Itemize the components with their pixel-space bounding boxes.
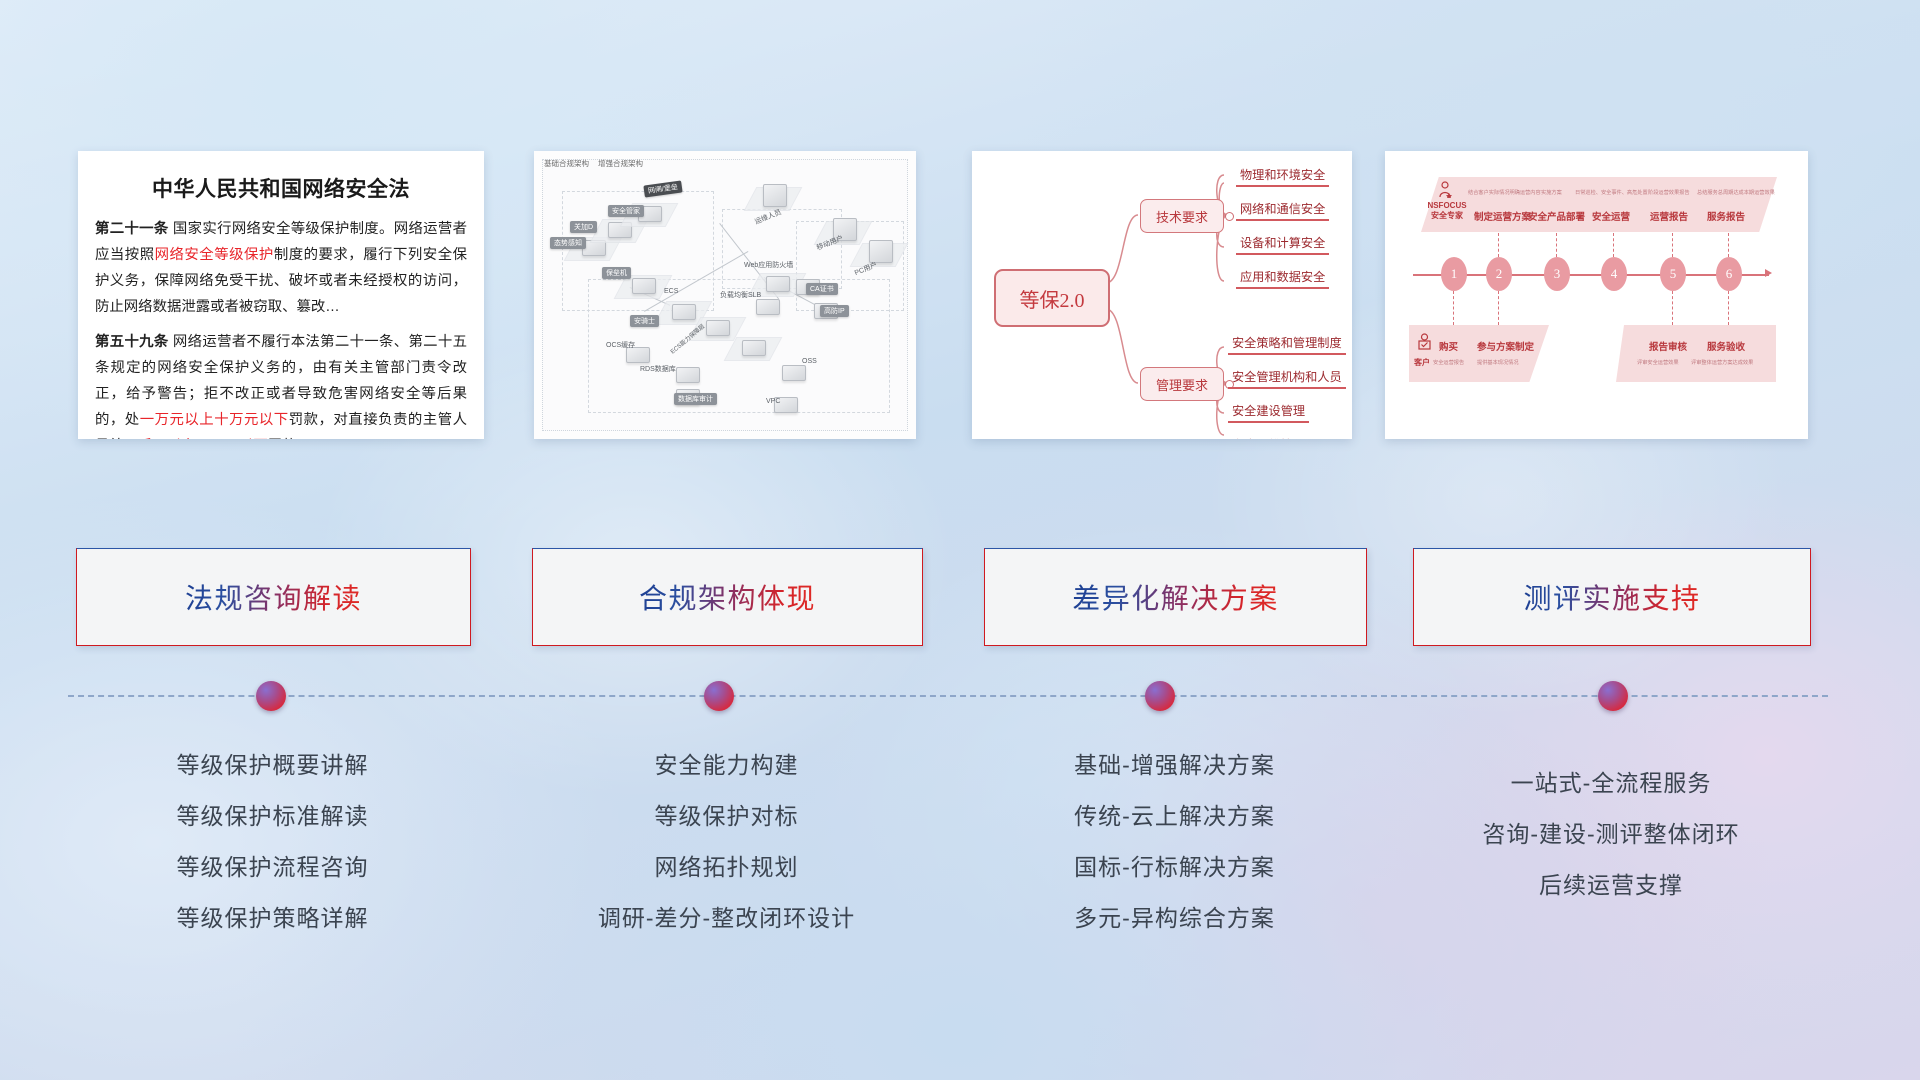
timeline-rail (68, 695, 1828, 699)
section-item: 等级保护对标 (532, 791, 921, 842)
timeline-step-node[interactable]: 3 (1544, 257, 1570, 291)
timeline-step-node[interactable]: 4 (1601, 257, 1627, 291)
section-title-row: 法规咨询解读 合规架构体现 差异化解决方案 测评实施支持 (0, 548, 1920, 648)
arch-label-vpc: VPC (762, 397, 784, 406)
section-title-label: 合规架构体现 (639, 577, 816, 617)
arch-label-ca: CA证书 (806, 283, 838, 295)
section-item: 多元-异构综合方案 (984, 893, 1365, 944)
arch-label-anti-ddos: 高防IP (820, 305, 849, 317)
arch-label-situational: 态势感知 (550, 237, 586, 249)
section-title-label: 法规咨询解读 (185, 577, 362, 617)
section-item: 等级保护标准解读 (76, 791, 469, 842)
timeline-top-sub: 结合客户实际情况明确运营内容 (1468, 189, 1541, 196)
arch-label-ocs: OCS缓存 (602, 339, 639, 351)
arch-label-db-audit: 数据库审计 (674, 393, 717, 405)
timeline-step-node[interactable]: 1 (1441, 257, 1467, 291)
section-detail-columns: 等级保护概要讲解 等级保护标准解读 等级保护流程咨询 等级保护策略详解 安全能力… (0, 740, 1920, 970)
timeline-top-sub: 阶段运营效果报告 (1648, 189, 1690, 196)
card-mindmap-dengbao: 等保2.0 技术要求 管理要求 物理和环境安全 网络和通信安全 设备和计算安全 … (972, 151, 1352, 439)
timeline-riser (1613, 233, 1615, 257)
mindmap-leaf: 应用和数据安全 (1236, 267, 1329, 289)
section-items-4: 一站式-全流程服务 咨询-建设-测评整体闭环 后续运营支撑 (1413, 758, 1809, 911)
rail-knob-3[interactable] (1145, 681, 1175, 711)
mindmap-leaf: 物理和环境安全 (1236, 165, 1329, 187)
timeline-step-node[interactable]: 5 (1660, 257, 1686, 291)
section-items-1: 等级保护概要讲解 等级保护标准解读 等级保护流程咨询 等级保护策略详解 (76, 740, 469, 944)
section-item: 后续运营支撑 (1413, 860, 1809, 911)
mindmap-leaf: 安全建设管理 (1228, 401, 1309, 423)
mindmap-leaf: 安全策略和管理制度 (1228, 333, 1346, 355)
timeline-riser (1453, 291, 1455, 325)
timeline-band-bottom-right (1616, 325, 1776, 382)
arch-label-shield: 关加D (570, 221, 597, 233)
section-item: 国标-行标解决方案 (984, 842, 1365, 893)
mindmap-branch-management: 管理要求 (1140, 367, 1224, 401)
timeline-bottom-caption: 服务验收 (1707, 339, 1745, 353)
tab-basic-compliance[interactable]: 基础合规架构 (544, 158, 589, 169)
timeline-brand: NSFOCUS 安全专家 (1423, 201, 1471, 221)
mindmap-expand-dot[interactable] (1225, 212, 1234, 221)
section-title-box-2[interactable]: 合规架构体现 (532, 548, 923, 646)
mindmap-leaf: 网络和通信安全 (1236, 199, 1329, 221)
section-title-label: 测评实施支持 (1523, 577, 1700, 617)
timeline-band-top (1421, 177, 1777, 232)
arch-label-bastion: 保垒机 (602, 267, 631, 279)
customer-person-icon (1417, 333, 1432, 352)
law-paragraph-1: 第二十一条 国家实行网络安全等级保护制度。网络运营者应当按照网络安全等级保护制度… (95, 216, 467, 320)
rail-knob-4[interactable] (1598, 681, 1628, 711)
section-item: 咨询-建设-测评整体闭环 (1413, 809, 1809, 860)
timeline-bottom-caption: 报告审核 (1649, 339, 1687, 353)
timeline-riser (1728, 233, 1730, 257)
law-paragraph-2: 第五十九条 网络运营者不履行本法第二十一条、第二十五条规定的网络安全保护义务的，… (95, 329, 467, 439)
architecture-tabs: 基础合规架构 增强合规架构 (544, 158, 643, 169)
section-items-3: 基础-增强解决方案 传统-云上解决方案 国标-行标解决方案 多元-异构综合方案 (984, 740, 1365, 944)
section-items-2: 安全能力构建 等级保护对标 网络拓扑规划 调研-差分-整改闭环设计 (532, 740, 921, 944)
arch-label-ecs: ECS (660, 287, 682, 296)
timeline-top-caption: 服务报告 (1707, 209, 1745, 223)
expert-person-icon (1437, 181, 1453, 198)
section-item: 等级保护流程咨询 (76, 842, 469, 893)
mindmap-leaf: 安全管理机构和人员 (1228, 367, 1346, 389)
timeline-top-sub: 实施方案 (1541, 189, 1562, 196)
timeline-top-caption: 运营报告 (1650, 209, 1688, 223)
law-title: 中华人民共和国网络安全法 (95, 173, 467, 203)
rail-knob-1[interactable] (256, 681, 286, 711)
timeline-bottom-caption: 参与方案制定 (1477, 339, 1534, 353)
timeline-top-caption: 安全产品部署 (1528, 209, 1585, 223)
timeline-brand-line2: 安全专家 (1423, 211, 1471, 221)
section-item: 安全能力构建 (532, 740, 921, 791)
section-title-box-3[interactable]: 差异化解决方案 (984, 548, 1367, 646)
section-item: 等级保护概要讲解 (76, 740, 469, 791)
section-title-box-1[interactable]: 法规咨询解读 (76, 548, 471, 646)
card-service-timeline: NSFOCUS 安全专家 客户 1 2 3 4 5 6 (1385, 151, 1808, 439)
tab-enhanced-compliance[interactable]: 增强合规架构 (598, 158, 643, 169)
mindmap-root-node: 等保2.0 (994, 269, 1110, 327)
arch-label-agent: 安骑士 (630, 315, 659, 327)
illustration-card-row: 中华人民共和国网络安全法 第二十一条 国家实行网络安全等级保护制度。网络运营者应… (0, 151, 1920, 441)
timeline-top-caption: 安全运营 (1592, 209, 1630, 223)
arch-label-oss: OSS (798, 357, 821, 366)
card-cybersecurity-law: 中华人民共和国网络安全法 第二十一条 国家实行网络安全等级保护制度。网络运营者应… (78, 151, 484, 439)
timeline-bottom-sub: 安全运营报告 (1433, 359, 1464, 366)
timeline-bottom-sub: 评审整体运营方案达成效果 (1691, 359, 1753, 366)
card-compliance-architecture: 基础合规架构 增强合规架构 (534, 151, 916, 439)
timeline-riser (1728, 291, 1730, 325)
arch-label-security-manager: 安全管家 (608, 205, 644, 217)
section-item: 网络拓扑规划 (532, 842, 921, 893)
timeline-riser (1672, 291, 1674, 325)
section-title-label: 差异化解决方案 (1072, 577, 1279, 617)
section-item: 基础-增强解决方案 (984, 740, 1365, 791)
timeline-customer-label: 客户 (1414, 357, 1430, 368)
timeline-bottom-sub: 提供基本现况情况 (1477, 359, 1519, 366)
arch-label-slb: 负载均衡SLB (716, 289, 765, 301)
timeline-step-node[interactable]: 2 (1486, 257, 1512, 291)
timeline-riser (1672, 233, 1674, 257)
timeline-bottom-caption: 购买 (1439, 339, 1458, 353)
mindmap-leaf: 设备和计算安全 (1236, 233, 1329, 255)
timeline-top-sub: 日常巡检、安全事件、高危处置 (1575, 189, 1648, 196)
timeline-riser (1498, 291, 1500, 325)
arch-label-rds: RDS数据库 (636, 363, 680, 375)
timeline-bottom-sub: 评审安全运营效果 (1637, 359, 1679, 366)
section-item: 传统-云上解决方案 (984, 791, 1365, 842)
timeline-riser (1498, 233, 1500, 257)
timeline-riser (1556, 233, 1558, 257)
section-title-box-4[interactable]: 测评实施支持 (1413, 548, 1811, 646)
arch-label-waf: Web应用防火墙 (740, 259, 797, 271)
section-item: 等级保护策略详解 (76, 893, 469, 944)
mindmap-leaf: 安全运维管理 (1228, 435, 1309, 439)
section-item: 调研-差分-整改闭环设计 (532, 893, 921, 944)
mindmap-branch-technical: 技术要求 (1140, 199, 1224, 233)
timeline-top-caption: 制定运营方案 (1474, 209, 1531, 223)
timeline-arrow-icon (1765, 269, 1772, 277)
timeline-brand-line1: NSFOCUS (1423, 201, 1471, 211)
timeline-step-node[interactable]: 6 (1716, 257, 1742, 291)
rail-knob-2[interactable] (704, 681, 734, 711)
timeline-top-sub: 总结服务总周期达成本期运营效果 (1697, 189, 1775, 196)
section-item: 一站式-全流程服务 (1413, 758, 1809, 809)
